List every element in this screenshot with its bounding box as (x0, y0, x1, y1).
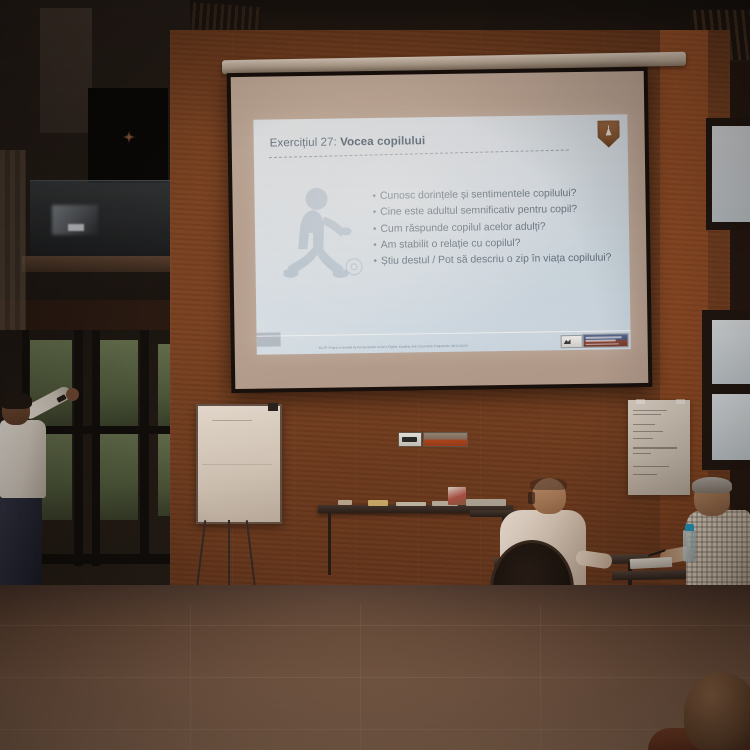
training-room-photo: Exercițiul 27: Vocea copilului (0, 0, 750, 750)
foreground-person-head (684, 672, 750, 750)
slide-bullet-text: Cunosc dorințele și sentimentele copilul… (380, 187, 577, 204)
bright-window (712, 394, 750, 460)
mezzanine-pillar (40, 8, 92, 133)
wall-mounted-plaque (398, 432, 468, 447)
screen-surface: Exercițiul 27: Vocea copilului (231, 71, 649, 389)
partner-logo-right-icon (583, 333, 629, 348)
table-item (338, 500, 352, 505)
water-bottle (683, 530, 696, 562)
floor-tile-seam (540, 605, 541, 750)
table-item (396, 502, 426, 506)
floor-tile-seam (360, 605, 361, 750)
tape-piece (636, 399, 645, 404)
slide-bullet-item: • Cum răspunde copilul acelor adulți? (373, 219, 623, 236)
easel-leg (228, 520, 230, 586)
slide-title-main: Vocea copilului (340, 135, 425, 148)
floor-tile-seam (0, 729, 750, 730)
plaque-image-icon (398, 432, 422, 447)
door-glass-pane (100, 434, 138, 520)
table-item-box (448, 487, 466, 505)
flipchart-on-easel[interactable] (196, 404, 282, 524)
bright-window (712, 320, 750, 384)
slide-bullet-text: Știu destul / Pot să descriu o zip în vi… (381, 252, 612, 269)
mezzanine-ledge (22, 256, 180, 272)
tape-piece (676, 399, 685, 404)
presenter-hair (0, 392, 32, 409)
tiled-floor (0, 585, 750, 750)
projection-screen[interactable]: Exercițiul 27: Vocea copilului (227, 67, 653, 393)
presenter-shirt (0, 420, 46, 498)
table-leg (328, 513, 331, 575)
slide-title-divider (269, 150, 569, 159)
slide-footer-bar: NCJP: Project is funded by the European … (257, 330, 631, 355)
floor-sheen (0, 585, 750, 750)
door-mullion (92, 330, 100, 566)
partner-logo-left-icon (561, 335, 583, 348)
slide-bullet-item: • Știu destul / Pot să descriu o zip în … (373, 252, 623, 269)
soccer-ball-icon (345, 258, 362, 275)
glass-highlight (68, 224, 84, 231)
floor-tile-seam (0, 625, 750, 626)
slide-bullet-item: • Cunosc dorințele și sentimentele copil… (372, 186, 622, 203)
participant-right-hair (692, 477, 732, 493)
flipchart-faint-writing (202, 464, 272, 465)
bullet-marker-icon: • (373, 206, 377, 219)
flipchart-sheet-taped-to-wall (628, 400, 690, 495)
flipchart-clip (268, 403, 278, 411)
bottle-cap (685, 524, 694, 531)
bullet-marker-icon: • (373, 223, 377, 236)
mezzanine-glass-railing (30, 180, 170, 261)
slide-footnote-text: NCJP: Project is funded by the European … (319, 344, 468, 350)
bullet-marker-icon: • (373, 255, 377, 268)
slide-bullet-list: • Cunosc dorințele și sentimentele copil… (372, 186, 623, 271)
door-glass-pane (100, 340, 138, 426)
bright-window (712, 126, 750, 222)
slide-title-prefix: Exercițiul 27: (270, 136, 341, 149)
shield-logo-badge-icon (597, 120, 619, 147)
presenter-hand (66, 388, 79, 401)
bullet-marker-icon: • (373, 239, 377, 252)
slide-bullet-text: Cine este adultul semnificativ pentru co… (380, 203, 577, 220)
flipchart-faint-writing (212, 420, 252, 421)
slide-bullet-text: Cum răspunde copilul acelor adulți? (380, 220, 545, 236)
slide-bullet-item: • Am stabilit o relație cu copilul? (373, 235, 623, 252)
floor-tile-seam (190, 605, 191, 750)
slide-title: Exercițiul 27: Vocea copilului (270, 135, 426, 149)
door-mullion (140, 330, 149, 560)
slide-bullet-item: • Cine este adultul semnificativ pentru … (373, 203, 623, 220)
projected-slide: Exercițiul 27: Vocea copilului (253, 114, 630, 355)
door-mullion (74, 330, 83, 566)
slide-bullet-text: Am stabilit o relație cu copilul? (381, 237, 521, 253)
participant-center-hairline (530, 478, 567, 490)
floor-tile-seam (0, 677, 750, 678)
participant-center-glasses-arm (528, 492, 535, 504)
table-item (368, 500, 388, 506)
bullet-marker-icon: • (372, 190, 376, 203)
plaque-text-band (423, 432, 468, 447)
table-item (466, 499, 506, 506)
